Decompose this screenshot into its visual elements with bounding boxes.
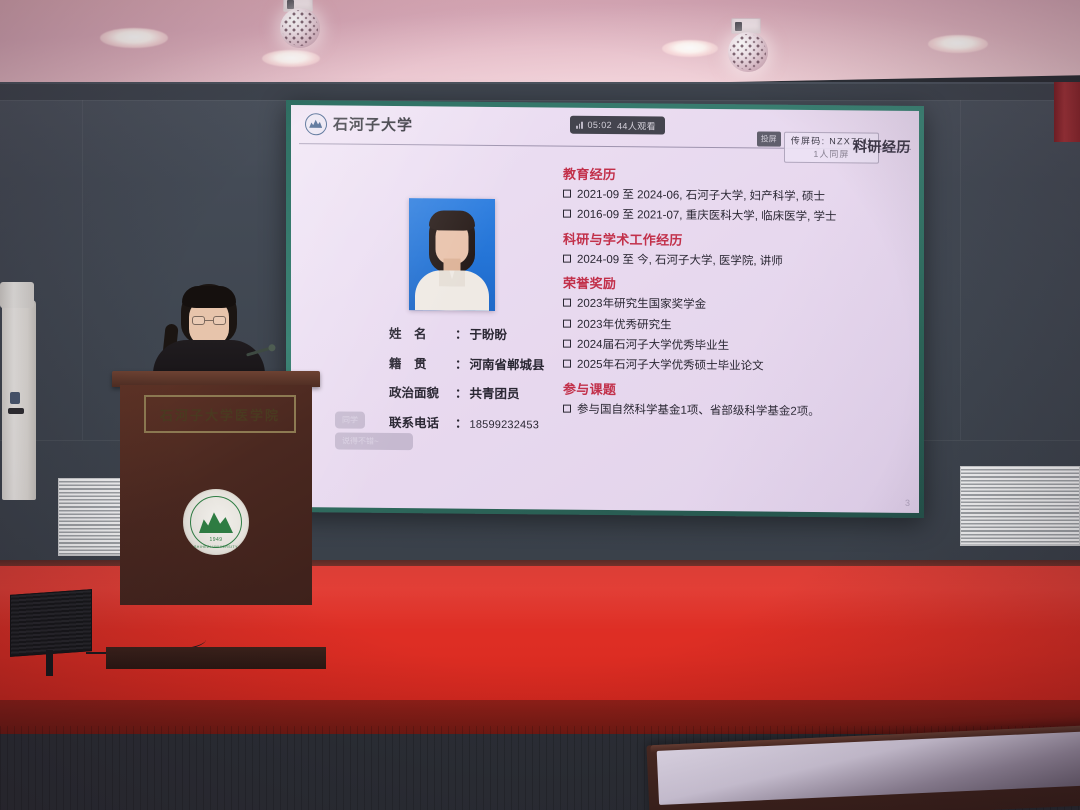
water-tap (10, 392, 20, 404)
square-bullet-icon (563, 210, 571, 218)
square-bullet-icon (563, 254, 571, 262)
section-title-research: 科研与学术工作经历 (563, 228, 915, 250)
slide-content-column: 教育经历 2021-09 至 2024-06, 石河子大学, 妇产科学, 硕士 … (563, 164, 915, 426)
chat-message: 说得不错~ (335, 432, 413, 450)
disco-ball-light (280, 8, 320, 48)
screencast-badge: 投屏 (757, 131, 781, 146)
info-colon: ： (455, 388, 468, 401)
live-elapsed-time: 05:02 (588, 120, 613, 130)
info-colon: ： (455, 358, 468, 371)
floor-speaker (10, 589, 92, 657)
list-item: 2025年石河子大学优秀硕士毕业论文 (563, 358, 915, 376)
ceiling-downlight (262, 50, 320, 67)
list-item: 2021-09 至 2024-06, 石河子大学, 妇产科学, 硕士 (563, 188, 915, 206)
chat-message: 同学 (335, 411, 365, 428)
podium-plaque-text: 石河子大学医学院 (160, 405, 280, 424)
list-item-text: 2023年研究生国家奖学金 (577, 297, 915, 315)
list-item: 参与国自然科学基金1项、省部级科学基金2项。 (563, 402, 915, 420)
id-photo (409, 198, 495, 311)
wall-band (0, 84, 1080, 100)
presenter-fringe (182, 286, 236, 308)
disco-ball-light (728, 32, 768, 72)
section-title-projects: 参与课题 (563, 378, 915, 400)
live-viewer-count: 44人观看 (617, 119, 656, 132)
list-item: 2024-09 至 今, 石河子大学, 医学院, 讲师 (563, 252, 915, 270)
list-item-text: 2023年优秀研究生 (577, 317, 915, 335)
podium-plinth (106, 647, 326, 669)
photo-fringe (429, 210, 475, 230)
info-label: 籍 贯 (389, 357, 455, 370)
podium-front-panel: 石河子大学医学院 1949 SHIHEZI UNIVERSITY (120, 385, 312, 605)
ceiling-downlight (662, 40, 718, 57)
section-title-education: 教育经历 (563, 164, 915, 186)
list-item: 2023年优秀研究生 (563, 317, 915, 335)
emblem-mountain-icon (199, 511, 233, 533)
list-item: 2023年研究生国家奖学金 (563, 297, 915, 315)
info-label: 政治面貌 (389, 387, 455, 400)
list-item-text: 参与国自然科学基金1项、省部级科学基金2项。 (577, 402, 915, 420)
list-item: 2024届石河子大学优秀毕业生 (563, 337, 915, 355)
shihezi-university-logo-icon (305, 113, 327, 135)
info-value-hometown: 河南省郸城县 (470, 358, 545, 371)
square-bullet-icon (563, 319, 571, 327)
wall-seam (0, 100, 1080, 101)
square-bullet-icon (563, 404, 571, 412)
info-label: 姓 名 (389, 328, 455, 341)
list-item-text: 2024届石河子大学优秀毕业生 (577, 338, 915, 356)
info-value-phone: 18599232453 (470, 419, 540, 431)
list-item-text: 2024-09 至 今, 石河子大学, 医学院, 讲师 (577, 252, 915, 270)
water-dispenser (2, 300, 36, 500)
info-colon: ： (455, 417, 468, 430)
chat-overlay: 同学 说得不错~ (335, 411, 413, 454)
podium: 石河子大学医学院 1949 SHIHEZI UNIVERSITY (112, 371, 320, 671)
speaker-stand (46, 650, 53, 676)
live-status-bar: 05:02 44人观看 (570, 116, 665, 135)
emblem-year: 1949 (209, 537, 222, 543)
lecture-hall-photo: 石河子大学 05:02 44人观看 投屏 传屏码: NZX7FU 1人同屏 科研… (0, 0, 1080, 810)
emblem-english-name: SHIHEZI UNIVERSITY (194, 545, 238, 549)
water-bottle (0, 282, 34, 308)
ceiling-downlight (928, 35, 988, 53)
glasses-icon (192, 316, 226, 325)
dispenser-button (8, 408, 24, 414)
wall-panel-line (960, 100, 961, 440)
list-item-text: 2021-09 至 2024-06, 石河子大学, 妇产科学, 硕士 (577, 188, 915, 206)
slide-university-name: 石河子大学 (333, 113, 413, 135)
red-curtain (1054, 82, 1080, 142)
podium-plaque: 石河子大学医学院 (144, 395, 296, 433)
slide-section-tab: 科研经历 (853, 136, 911, 157)
list-item-text: 2016-09 至 2021-07, 重庆医科大学, 临床医学, 学士 (577, 208, 915, 226)
projection-screen: 石河子大学 05:02 44人观看 投屏 传屏码: NZX7FU 1人同屏 科研… (291, 105, 919, 513)
ceiling-downlight (100, 28, 168, 48)
square-bullet-icon (563, 360, 571, 368)
signal-bars-icon (576, 121, 583, 129)
list-item-text: 2025年石河子大学优秀硕士毕业论文 (577, 358, 915, 376)
square-bullet-icon (563, 299, 571, 307)
info-value-name: 于盼盼 (470, 329, 508, 342)
university-emblem: 1949 SHIHEZI UNIVERSITY (183, 489, 249, 555)
wall-panel-line (82, 100, 83, 440)
info-value-political: 共青团员 (470, 388, 520, 401)
square-bullet-icon (563, 190, 571, 198)
slide-page-number: 3 (905, 498, 910, 508)
photo-shirt (415, 270, 489, 311)
projection-screen-frame: 石河子大学 05:02 44人观看 投屏 传屏码: NZX7FU 1人同屏 科研… (286, 100, 924, 518)
square-bullet-icon (563, 339, 571, 347)
section-title-honors: 荣誉奖励 (563, 273, 915, 295)
info-colon: ： (455, 329, 468, 342)
wall-vent-grille-right (960, 466, 1080, 546)
list-item: 2016-09 至 2021-07, 重庆医科大学, 临床医学, 学士 (563, 208, 915, 226)
